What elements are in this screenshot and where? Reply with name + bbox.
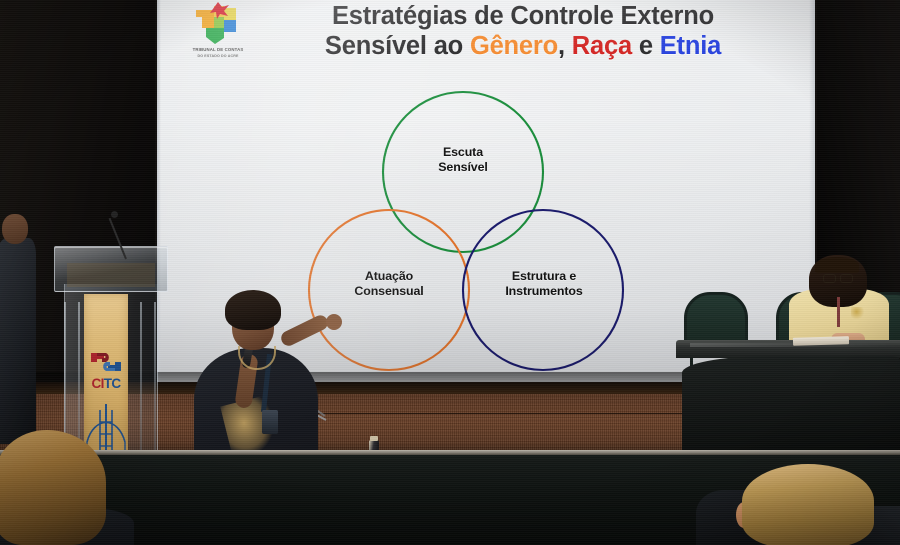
citc-logo-svg xyxy=(89,350,123,374)
photo-scene: TRIBUNAL DE CONTAS DO ESTADO DO ACRE Est… xyxy=(0,0,900,545)
venn-label-escuta-sensivel: Escuta Sensível xyxy=(413,145,513,176)
venn-label-estrutura-instrumentos-line1: Estrutura e xyxy=(481,269,607,284)
gooseneck-microphone-head xyxy=(111,211,118,218)
panel-table-skirt xyxy=(682,356,900,450)
citc-wordmark: CITC xyxy=(84,377,128,391)
eyeglasses-icon xyxy=(823,274,851,281)
presenter-hair xyxy=(225,290,281,330)
audience-member-foreground-right xyxy=(700,464,900,545)
documents-on-table xyxy=(793,336,849,346)
panelist-lanyard xyxy=(837,297,840,327)
citc-logo xyxy=(89,350,123,374)
attendee-far-left-head xyxy=(2,214,28,244)
venn-label-atuacao-consensual: Atuação Consensual xyxy=(333,269,445,300)
attendee-far-left-body xyxy=(0,238,36,444)
venn-label-atuacao-consensual-line1: Atuação xyxy=(333,269,445,284)
lectern-surface-shade xyxy=(67,263,155,287)
citc-wordmark-part2: TC xyxy=(104,376,121,391)
presenter-badge xyxy=(262,410,278,434)
presenter-pointing-hand xyxy=(326,314,342,330)
attendee-far-left xyxy=(0,214,38,444)
venn-label-escuta-sensivel-line1: Escuta xyxy=(413,145,513,160)
panel-table-highlight xyxy=(690,343,890,347)
audience-left-hair xyxy=(0,430,106,545)
venn-label-estrutura-instrumentos: Estrutura e Instrumentos xyxy=(481,269,607,300)
presenter-raised-arm xyxy=(279,313,331,348)
venn-label-escuta-sensivel-line2: Sensível xyxy=(413,160,513,175)
audience-member-foreground-left xyxy=(0,430,126,545)
citc-wordmark-part1: CI xyxy=(91,376,103,391)
lectern-reading-surface xyxy=(54,246,168,292)
audience-right-hair xyxy=(742,464,874,545)
prop-bottle-cap xyxy=(370,436,378,441)
panelist-brooch xyxy=(851,307,865,319)
panelist-fringe xyxy=(815,257,859,273)
lectern: CITC xyxy=(48,246,172,460)
venn-label-estrutura-instrumentos-line2: Instrumentos xyxy=(481,284,607,299)
venn-label-atuacao-consensual-line2: Consensual xyxy=(333,284,445,299)
